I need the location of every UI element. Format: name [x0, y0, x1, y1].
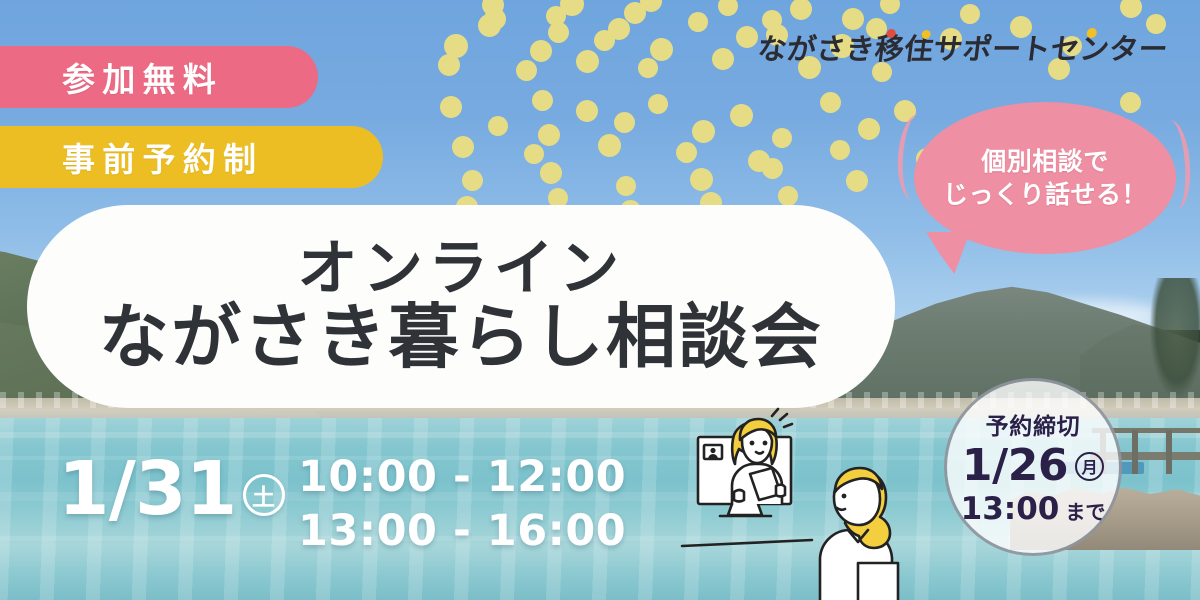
confetti-dot	[1120, 0, 1142, 18]
confetti-dot	[594, 30, 615, 51]
confetti-dot	[820, 92, 841, 113]
confetti-dot	[540, 162, 562, 184]
title-line-2: ながさき暮らし相談会	[99, 302, 824, 373]
deadline-date: 1/26	[962, 444, 1068, 488]
logo-part-6: ター	[1107, 32, 1170, 66]
pier-post	[1166, 430, 1172, 474]
confetti-dot	[462, 170, 483, 191]
time-slot-2: 13:00 - 16:00	[298, 504, 626, 558]
deadline-time-row: 13:00 まで	[961, 491, 1106, 527]
speech-bubble-group: 個別相談で じっくり話せる！	[900, 92, 1190, 287]
confetti-dot	[532, 90, 553, 111]
confetti-dot	[488, 116, 508, 136]
deadline-suffix: まで	[1065, 496, 1105, 525]
confetti-dot	[516, 60, 537, 81]
confetti-dot	[718, 0, 738, 16]
confetti-dot	[772, 128, 792, 148]
confetti-dot	[858, 118, 880, 140]
confetti-dot	[598, 134, 621, 157]
title-line-1: オンライン	[298, 239, 625, 300]
desk-line	[682, 540, 812, 546]
logo-part-1: ながさき	[756, 32, 877, 66]
event-times: 10:00 - 12:00 13:00 - 16:00	[298, 450, 626, 558]
confetti-dot	[440, 96, 462, 118]
confetti-dot	[650, 38, 673, 61]
title-panel: オンライン ながさき暮らし相談会	[27, 205, 895, 408]
confetti-dot	[530, 40, 552, 62]
confetti-dot	[616, 176, 636, 196]
confetti-dot	[846, 170, 868, 192]
confetti-dot	[478, 14, 501, 37]
confetti-dot	[576, 100, 598, 122]
confetti-dot	[960, 4, 980, 24]
event-date: 1/31	[58, 452, 237, 526]
bubble-tail	[920, 232, 972, 274]
deadline-day-of-week: 月	[1075, 452, 1104, 481]
confetti-dot	[548, 22, 569, 43]
confetti-dot	[736, 26, 758, 48]
time-slot-1: 10:00 - 12:00	[298, 450, 626, 504]
confetti-dot	[692, 120, 715, 143]
confetti-dot	[524, 144, 544, 164]
confetti-dot	[790, 0, 812, 20]
confetti-dot	[730, 104, 753, 127]
deadline-date-row: 1/26 月	[962, 444, 1104, 488]
confetti-dot	[614, 112, 635, 133]
confetti-dot	[690, 168, 713, 191]
logo-part-5: ン	[1078, 32, 1111, 66]
badge-advance-reservation: 事前予約制	[0, 126, 383, 188]
confetti-dot	[830, 140, 850, 160]
bubble-line-2: じっくり話せる！	[943, 178, 1147, 211]
bubble-line-1: 個別相談で	[981, 145, 1109, 178]
person-viewer-icon	[820, 468, 898, 600]
speech-bubble: 個別相談で じっくり話せる！	[914, 102, 1176, 254]
confetti-dot	[676, 142, 697, 163]
confetti-dot	[688, 12, 708, 32]
deadline-heading: 予約締切	[986, 407, 1081, 441]
event-day-of-week: 土	[243, 474, 285, 516]
confetti-dot	[648, 94, 668, 114]
confetti-dot	[538, 124, 560, 146]
confetti-dot	[778, 186, 798, 206]
sparkle-icon	[772, 409, 792, 427]
online-consultation-illustration	[672, 400, 924, 600]
logo-part-4: サポートセ	[931, 32, 1082, 66]
logo-part-3: 住	[902, 32, 935, 66]
confetti-dot	[880, 0, 900, 14]
reservation-deadline-badge: 予約締切 1/26 月 13:00 まで	[944, 378, 1122, 556]
organization-logo: ながさき移住サポートセンター	[755, 26, 1170, 68]
event-date-block: 1/31 土	[58, 452, 285, 526]
confetti-dot	[452, 136, 474, 158]
badge-free-participation: 参加無料	[0, 46, 318, 108]
pier-post	[1132, 430, 1138, 474]
confetti-dot	[624, 2, 646, 24]
confetti-dot	[762, 158, 783, 179]
confetti-dot	[712, 48, 734, 70]
confetti-dot	[638, 58, 658, 78]
banner-root: 参加無料 事前予約制 ながさき移住サポートセンター 個別相談で じっくり話せる！…	[0, 0, 1200, 600]
confetti-dot	[438, 54, 460, 76]
confetti-dot	[576, 50, 599, 73]
deadline-time: 13:00	[961, 491, 1060, 527]
